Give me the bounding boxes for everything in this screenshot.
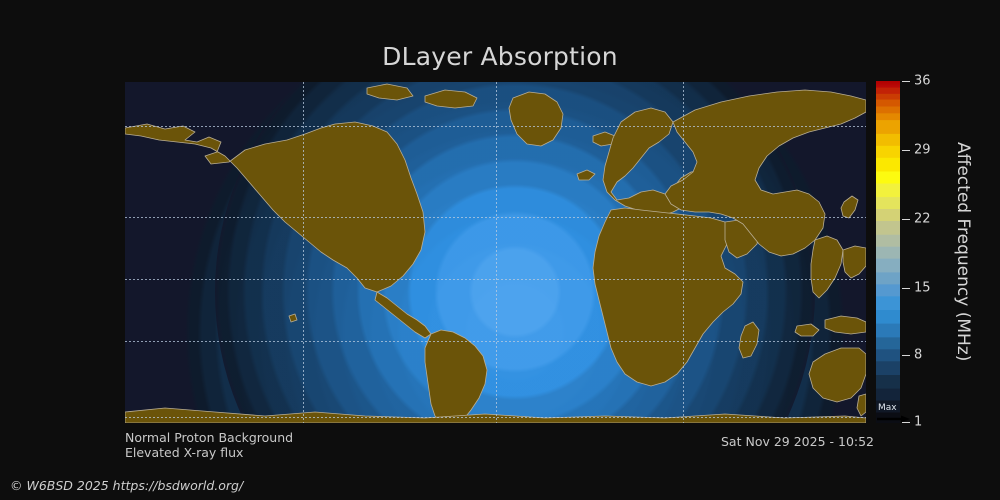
timestamp: Sat Nov 29 2025 - 10:52 (721, 434, 874, 449)
map-canvas (125, 82, 866, 423)
colorbar-max-label: Max (878, 403, 897, 413)
colorbar[interactable]: Max 36 29 22 15 8 1 (876, 81, 900, 423)
colorbar-tick-15 (902, 288, 910, 289)
colorbar-tick-1 (902, 422, 910, 423)
page-title: DLayer Absorption (0, 42, 1000, 71)
colorbar-axis-title: Affected Frequency (MHz) (951, 81, 975, 423)
colorbar-tick-36 (902, 81, 910, 82)
world-map-panel[interactable] (125, 82, 866, 423)
xray-flux-status: Elevated X-ray flux (125, 445, 243, 460)
colorbar-tick-label-29: 29 (914, 143, 931, 158)
dlayer-absorption-screen: DLayer Absorption (0, 0, 1000, 500)
colorbar-tick-label-8: 8 (914, 348, 922, 363)
colorbar-tick-label-22: 22 (914, 212, 931, 227)
proton-background-status: Normal Proton Background (125, 430, 293, 445)
copyright-notice: © W6BSD 2025 https://bsdworld.org/ (10, 478, 243, 493)
colorbar-gradient (876, 81, 900, 423)
colorbar-tick-22 (902, 219, 910, 220)
colorbar-tick-8 (902, 355, 910, 356)
colorbar-tick-label-15: 15 (914, 281, 931, 296)
colorbar-tick-label-1: 1 (914, 415, 922, 430)
colorbar-tick-label-36: 36 (914, 74, 931, 89)
colorbar-tick-29 (902, 150, 910, 151)
